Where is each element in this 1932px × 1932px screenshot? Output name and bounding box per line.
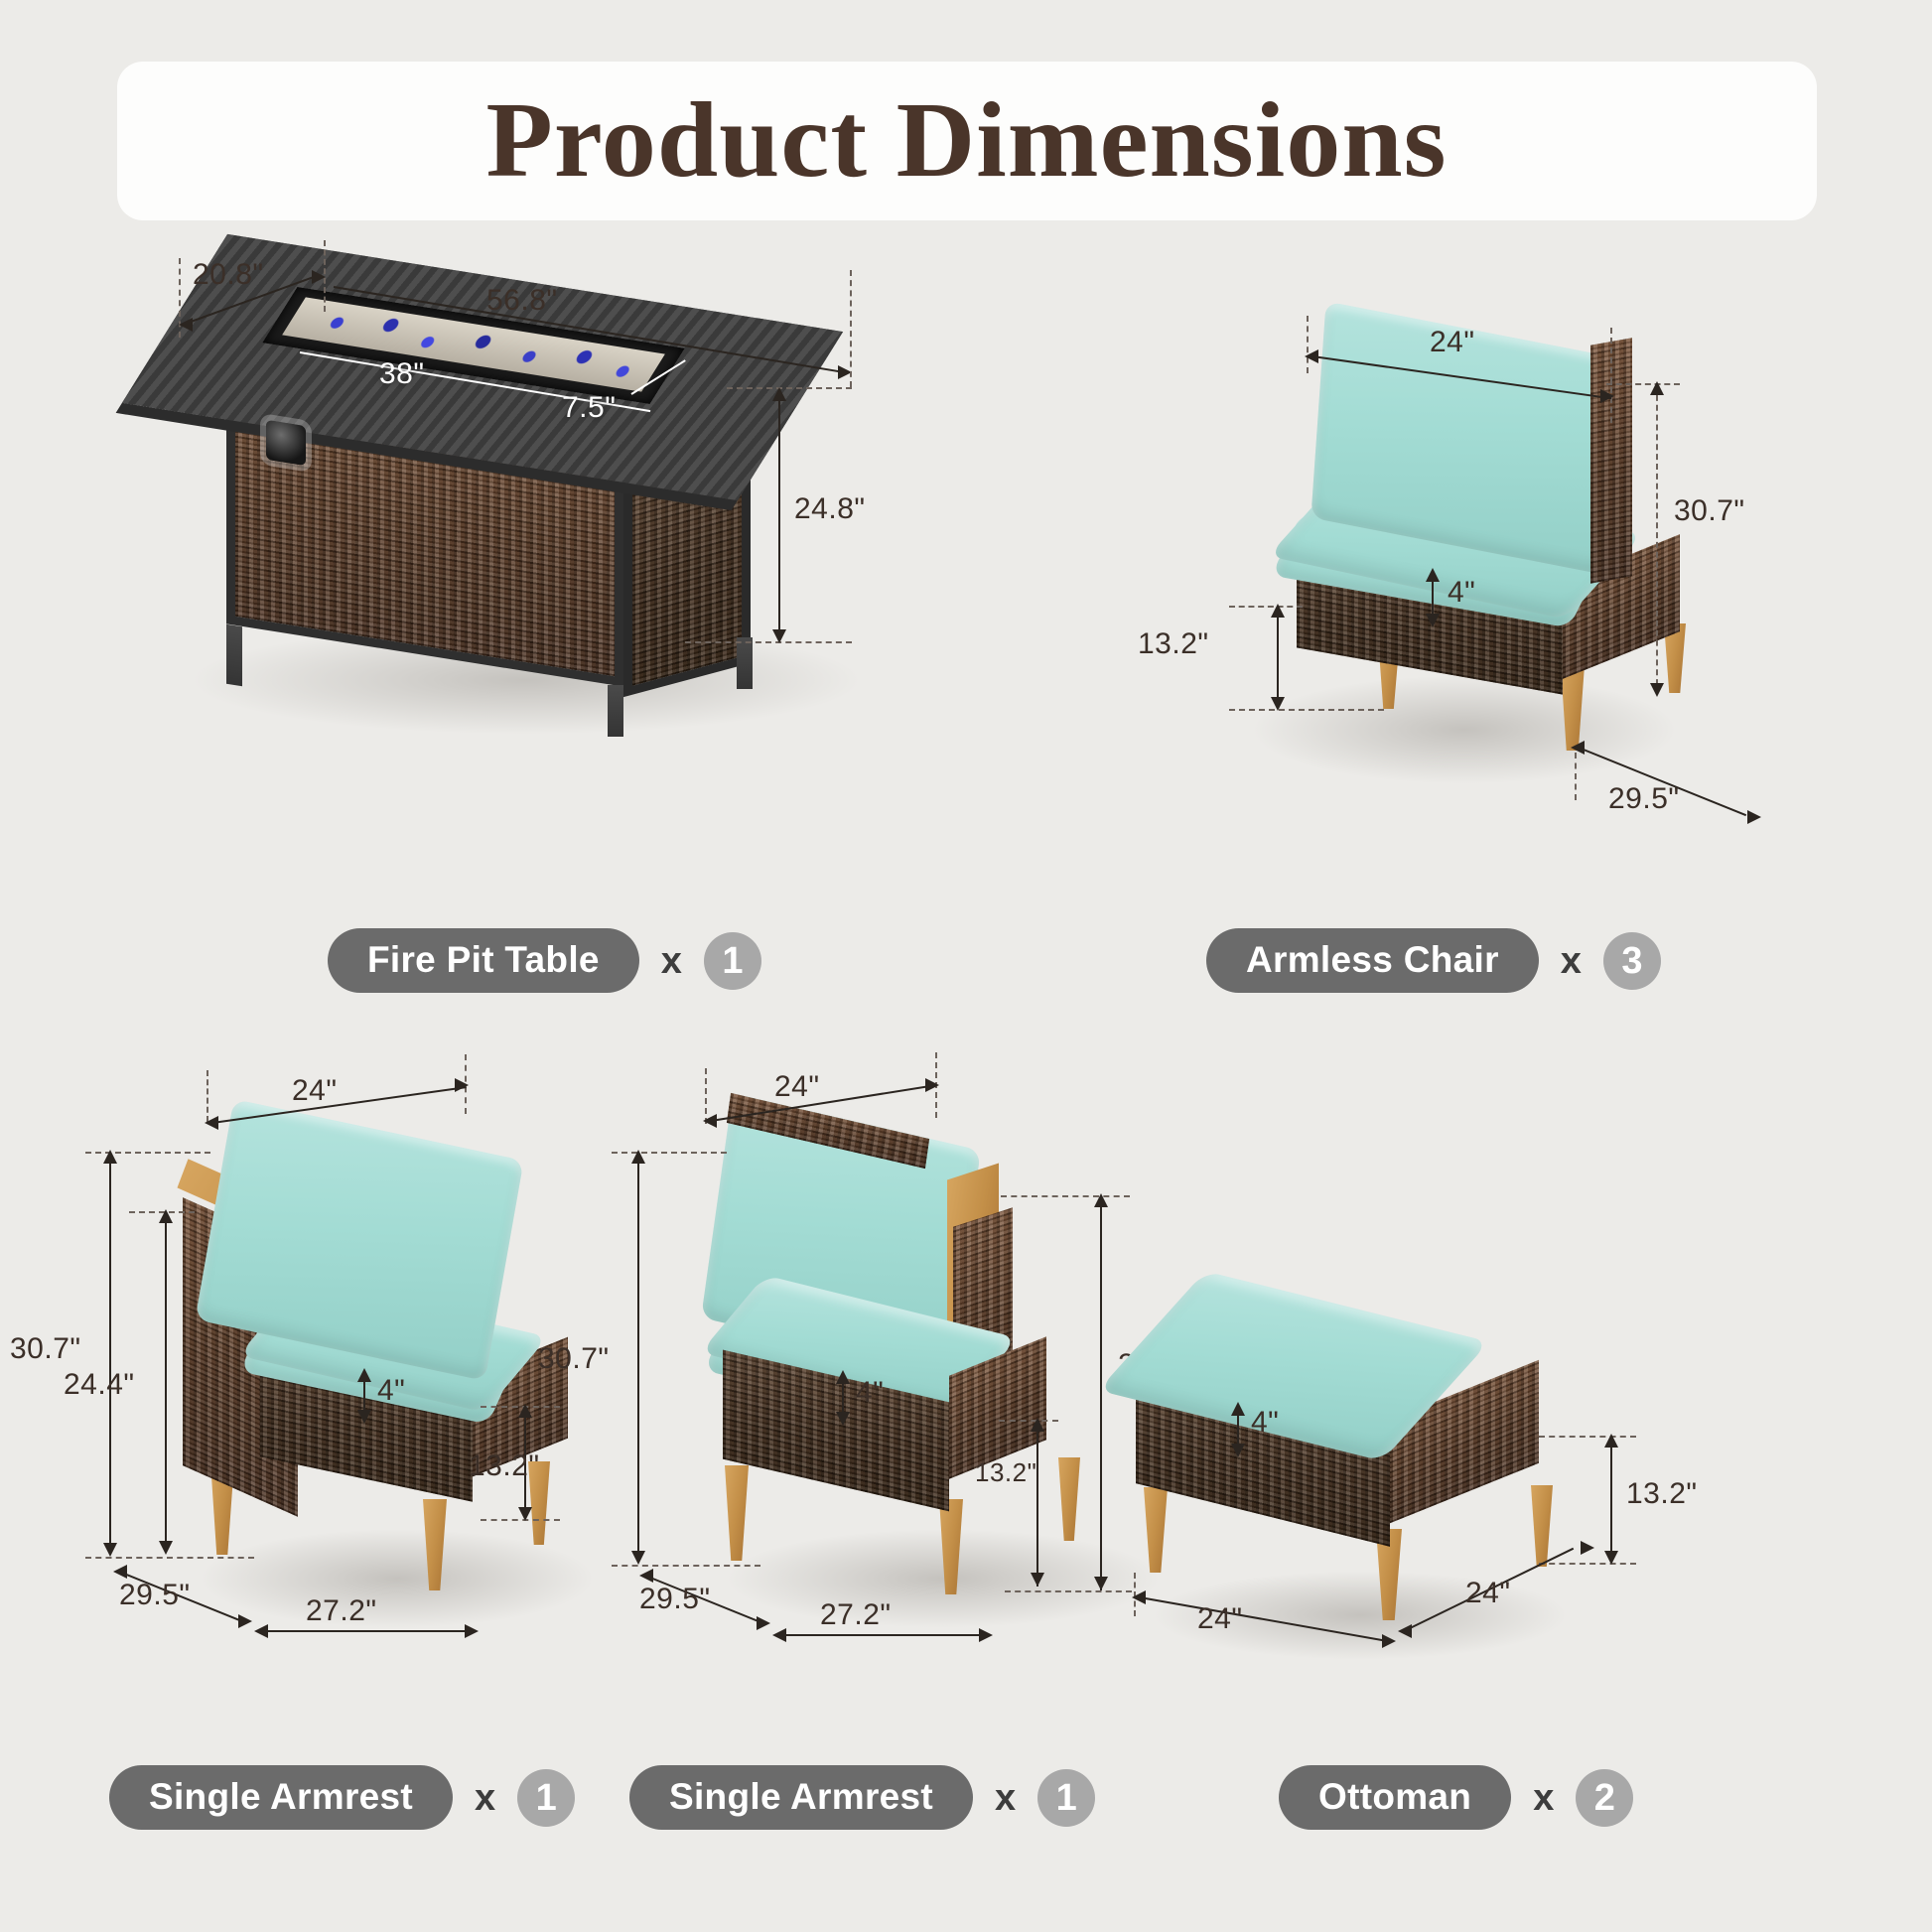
dim-armrest-right-width: 24" — [774, 1070, 820, 1104]
header-card: Product Dimensions — [117, 62, 1817, 220]
guide-width-left — [207, 1070, 208, 1122]
guide-h-top — [1539, 1436, 1636, 1438]
ottoman-leg-front-left — [1144, 1487, 1168, 1573]
fire-pit-table-badge-row: Fire Pit Table x 1 — [328, 928, 761, 993]
arrowhead-oh-top — [1650, 381, 1664, 395]
arrowhead-oh-bottom — [103, 1543, 117, 1557]
fire-pit-table-illustration: 20.8" 56.8" 38" 7.5" 24.8" — [149, 248, 903, 715]
rule-base-width — [258, 1630, 477, 1632]
single-armrest-left-badge-row: Single Armrest x 1 — [109, 1765, 575, 1830]
arrowhead-sh-top — [1271, 604, 1285, 618]
guide-oh-top — [612, 1152, 727, 1154]
chair-leg-front-left — [725, 1465, 749, 1561]
arrowhead-sh-bottom — [1271, 697, 1285, 711]
quantity-ottoman: 2 — [1576, 1769, 1633, 1827]
multiplier-single-armrest-right: x — [995, 1779, 1016, 1817]
dim-armrest-right-base-width: 27.2" — [820, 1598, 892, 1632]
armless-chair-illustration: 24" 30.7" 4" 13.2" 29.5" — [1112, 377, 1866, 874]
ottoman-badge-row: Ottoman x 2 — [1279, 1765, 1633, 1830]
dim-armless-overall-height: 30.7" — [1674, 494, 1745, 528]
dim-armrest-right-depth: 29.5" — [639, 1583, 711, 1616]
arrowhead-depth-left — [113, 1565, 127, 1579]
guide-depth-left — [1575, 753, 1577, 800]
arrowhead-d-right — [1581, 1541, 1594, 1555]
arrowhead-sh-top — [1031, 1418, 1044, 1432]
dim-armrest-right-seat-height: 13.2" — [975, 1457, 1036, 1488]
dim-armrest-left-seat-height: 13.2" — [469, 1449, 540, 1483]
single-armrest-right-badge-row: Single Armrest x 1 — [629, 1765, 1095, 1830]
dim-fire-pit-burner-length: 38" — [379, 357, 425, 391]
dim-armrest-left-base-width: 27.2" — [306, 1594, 377, 1628]
rule-height — [778, 389, 780, 641]
guide-oh-bottom — [612, 1565, 760, 1567]
guide-sh-bottom — [1229, 709, 1384, 711]
arrowhead-cushion-bottom — [357, 1410, 371, 1424]
quantity-armless-chair: 3 — [1603, 932, 1661, 990]
dim-fire-pit-depth: 20.8" — [193, 258, 264, 292]
arrowhead-width-right — [455, 1078, 469, 1092]
guide-oh-top — [1606, 383, 1680, 385]
arrowhead-cushion-bottom — [1426, 614, 1440, 627]
dim-armrest-left-arm-height: 24.4" — [64, 1368, 135, 1402]
arrowhead-cushion-top — [1426, 568, 1440, 582]
arrowhead-cushion-bottom — [1231, 1444, 1245, 1457]
dim-armrest-left-cushion: 4" — [377, 1374, 405, 1408]
arrowhead-oh-bottom — [1650, 683, 1664, 697]
ottoman-illustration: 4" 13.2" 24" 24" — [1122, 1281, 1718, 1678]
dim-armless-seat-height: 13.2" — [1138, 627, 1209, 661]
arrowhead-w-right — [1382, 1634, 1396, 1648]
quantity-single-armrest-right: 1 — [1037, 1769, 1095, 1827]
arrowhead-bw-right — [465, 1624, 479, 1638]
arrowhead-width-left — [1305, 349, 1318, 363]
floor-shadow — [1251, 675, 1678, 784]
rule-base-width — [776, 1634, 991, 1636]
dim-armless-cushion: 4" — [1448, 576, 1475, 610]
arrowhead-depth-right — [312, 270, 326, 284]
arrowhead-ah-bottom — [1094, 1577, 1108, 1590]
arrowhead-cushion-top — [357, 1368, 371, 1382]
arrowhead-cushion-top — [836, 1370, 850, 1384]
arrowhead-width-right — [925, 1078, 939, 1092]
rule-sh — [1036, 1422, 1038, 1587]
arrowhead-cushion-top — [1231, 1402, 1245, 1416]
dim-ottoman-width: 24" — [1197, 1602, 1243, 1636]
dim-armrest-left-width: 24" — [292, 1074, 338, 1108]
armless-chair-badge-row: Armless Chair x 3 — [1206, 928, 1661, 993]
multiplier-fire-pit-table: x — [661, 942, 682, 980]
arrowhead-ah-top — [159, 1209, 173, 1223]
arrowhead-width-left — [703, 1114, 717, 1128]
rule-oh — [109, 1154, 111, 1555]
dim-armless-depth: 29.5" — [1608, 782, 1680, 816]
guide-height-top — [727, 387, 852, 389]
product-label-single-armrest-left: Single Armrest — [109, 1765, 453, 1830]
arrowhead-bw-left — [772, 1628, 786, 1642]
arrowhead-bw-right — [979, 1628, 993, 1642]
dim-armrest-right-overall-height: 30.7" — [538, 1342, 610, 1376]
quantity-fire-pit-table: 1 — [704, 932, 761, 990]
arrowhead-oh-bottom — [631, 1551, 645, 1565]
arrowhead-height-top — [772, 387, 786, 401]
arrowhead-depth-right — [238, 1614, 252, 1628]
guide-sh-top — [999, 1420, 1058, 1422]
arrowhead-oh-top — [631, 1150, 645, 1164]
arrowhead-width-right — [1600, 389, 1614, 403]
arrowhead-ah-bottom — [159, 1541, 173, 1555]
dim-ottoman-depth: 24" — [1465, 1577, 1511, 1610]
multiplier-armless-chair: x — [1561, 942, 1582, 980]
dim-armrest-left-depth: 29.5" — [119, 1579, 191, 1612]
product-label-ottoman: Ottoman — [1279, 1765, 1511, 1830]
product-label-single-armrest-right: Single Armrest — [629, 1765, 973, 1830]
guide-sh-top — [1229, 606, 1303, 608]
guide-width-right — [1610, 328, 1612, 423]
dim-ottoman-height: 13.2" — [1626, 1477, 1698, 1511]
multiplier-ottoman: x — [1533, 1779, 1554, 1817]
rule-sh — [1277, 608, 1279, 709]
dim-ottoman-cushion: 4" — [1251, 1406, 1279, 1440]
arrowhead-sh-top — [518, 1404, 532, 1418]
multiplier-single-armrest-left: x — [475, 1779, 495, 1817]
guide-ah-top — [1001, 1195, 1130, 1197]
dim-armless-width: 24" — [1430, 326, 1475, 359]
arrowhead-sh-bottom — [518, 1507, 532, 1521]
guide-oh-bottom — [85, 1557, 254, 1559]
arrowhead-depth-left — [639, 1569, 653, 1583]
page-title: Product Dimensions — [486, 87, 1448, 195]
dim-fire-pit-height: 24.8" — [794, 492, 866, 526]
arrowhead-height-bottom — [772, 629, 786, 643]
table-leg-front-right — [608, 685, 623, 737]
arrowhead-h-bottom — [1604, 1551, 1618, 1565]
product-label-fire-pit-table: Fire Pit Table — [328, 928, 639, 993]
rule-oh — [1656, 385, 1658, 695]
rule-height — [1610, 1438, 1612, 1563]
rule-ah — [165, 1213, 167, 1553]
arrowhead-d-left — [1398, 1624, 1412, 1638]
dim-fire-pit-burner-width: 7.5" — [562, 391, 616, 425]
dim-armrest-left-overall-height: 30.7" — [10, 1332, 81, 1366]
quantity-single-armrest-left: 1 — [517, 1769, 575, 1827]
arrowhead-h-top — [1604, 1434, 1618, 1448]
arrowhead-width-left — [205, 1116, 218, 1130]
ottoman-leg-back-right — [1531, 1485, 1553, 1567]
arrowhead-sh-bottom — [1031, 1573, 1044, 1587]
dim-fire-pit-width: 56.8" — [486, 284, 558, 318]
arrowhead-depth-left — [1571, 741, 1585, 755]
arrowhead-depth-right — [757, 1616, 770, 1630]
gas-control-knob[interactable] — [266, 420, 306, 466]
arrowhead-depth-left — [179, 318, 193, 332]
guide-width-right — [850, 270, 852, 387]
arrowhead-w-left — [1132, 1590, 1146, 1604]
table-leg-back-right — [737, 637, 753, 689]
rule-ah — [1100, 1197, 1102, 1590]
arrowhead-ah-top — [1094, 1193, 1108, 1207]
product-label-armless-chair: Armless Chair — [1206, 928, 1539, 993]
guide-height-bottom — [685, 641, 852, 643]
arrowhead-oh-top — [103, 1150, 117, 1164]
guide-width-left — [1307, 316, 1309, 373]
arrowhead-depth-right — [1747, 810, 1761, 824]
arrowhead-bw-left — [254, 1624, 268, 1638]
guide-ah-bottom — [1005, 1590, 1132, 1592]
arrowhead-cushion-bottom — [836, 1412, 850, 1426]
table-leg-front-left — [226, 624, 242, 687]
dim-armrest-right-cushion: 4" — [856, 1376, 884, 1410]
rule-oh — [637, 1154, 639, 1563]
guide-h-bottom — [1539, 1563, 1636, 1565]
chair-leg-back-right — [1058, 1457, 1080, 1541]
